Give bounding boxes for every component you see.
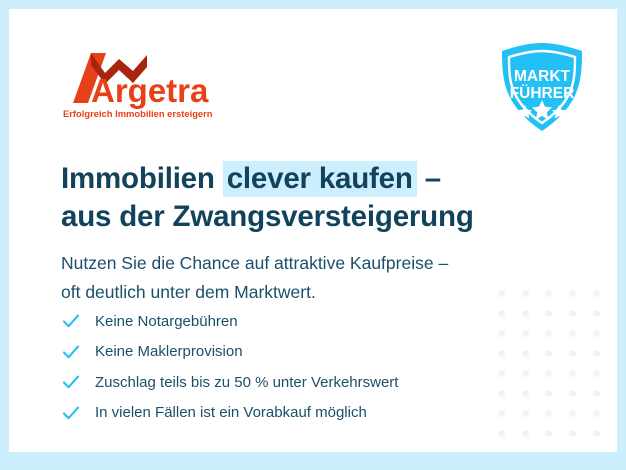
dot (593, 310, 600, 317)
check-icon (61, 342, 81, 362)
logo-tagline: Erfolgreich Immobilien ersteigern (63, 108, 213, 119)
dot (522, 430, 529, 437)
dot (545, 330, 552, 337)
headline-highlight: clever kaufen (223, 161, 417, 197)
subheading-line2: oft deutlich unter dem Marktwert. (61, 278, 591, 307)
headline-part2: – (417, 162, 441, 195)
check-icon (61, 403, 81, 423)
dot (569, 390, 576, 397)
dot (593, 330, 600, 337)
list-item: In vielen Fällen ist ein Vorabkauf mögli… (61, 398, 531, 429)
ad-card: Argetra Erfolgreich Immobilien ersteiger… (9, 9, 617, 452)
list-item-label: In vielen Fällen ist ein Vorabkauf mögli… (95, 405, 367, 420)
dot (593, 430, 600, 437)
dot (569, 410, 576, 417)
dot (545, 410, 552, 417)
markt-fuehrer-badge: MARKT FÜHRER MARKT FÜHRER (496, 41, 588, 135)
dot (593, 370, 600, 377)
headline-line2: aus der Zwangsversteigerung (61, 199, 581, 235)
ad-banner: Argetra Erfolgreich Immobilien ersteiger… (0, 0, 626, 470)
dot (569, 310, 576, 317)
dot (545, 370, 552, 377)
list-item-label: Zuschlag teils bis zu 50 % unter Verkehr… (95, 375, 398, 390)
page-title: Immobilien clever kaufen – aus der Zwang… (61, 161, 581, 235)
list-item: Keine Notargebühren (61, 306, 531, 337)
dot (569, 350, 576, 357)
logo-wordmark: Argetra (91, 72, 209, 109)
subheading: Nutzen Sie die Chance auf attraktive Kau… (61, 249, 591, 307)
dot (545, 390, 552, 397)
dot (593, 290, 600, 297)
argetra-logo: Argetra Erfolgreich Immobilien ersteiger… (61, 51, 261, 121)
badge-line2: FÜHRER (510, 85, 575, 102)
dot (545, 430, 552, 437)
subheading-line1: Nutzen Sie die Chance auf attraktive Kau… (61, 249, 591, 278)
dot (545, 350, 552, 357)
dot (498, 430, 505, 437)
benefits-checklist: Keine Notargebühren Keine Maklerprovisio… (61, 306, 531, 428)
list-item-label: Keine Notargebühren (95, 314, 238, 329)
check-icon (61, 372, 81, 392)
dot (593, 350, 600, 357)
badge-line1: MARKT (514, 68, 570, 85)
dot (569, 370, 576, 377)
check-icon (61, 311, 81, 331)
dot (545, 310, 552, 317)
dot (593, 390, 600, 397)
dot (569, 330, 576, 337)
dot (593, 410, 600, 417)
list-item: Keine Maklerprovision (61, 337, 531, 368)
headline-part1: Immobilien (61, 162, 223, 195)
dot (569, 430, 576, 437)
list-item-label: Keine Maklerprovision (95, 344, 243, 359)
list-item: Zuschlag teils bis zu 50 % unter Verkehr… (61, 367, 531, 398)
